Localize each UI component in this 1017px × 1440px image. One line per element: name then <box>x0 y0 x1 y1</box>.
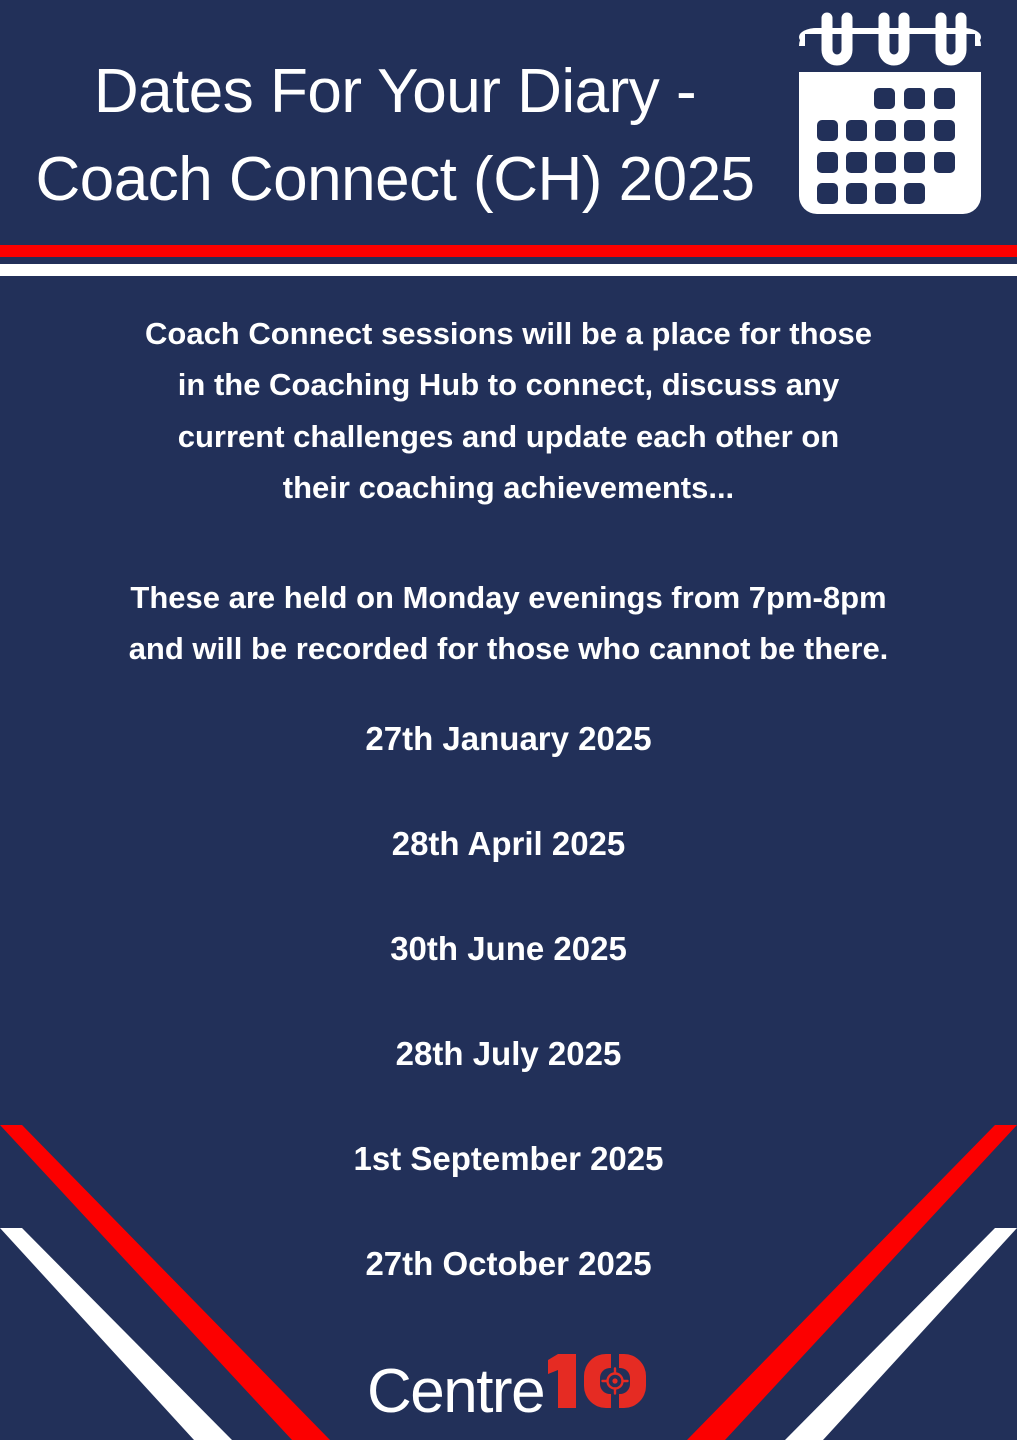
paragraph-spacer <box>0 514 1017 572</box>
list-item: 28th July 2025 <box>0 1037 1017 1070</box>
logo-wordmark: Centre <box>367 1361 544 1423</box>
logo: Centre <box>0 1350 1017 1412</box>
intro-paragraph: Coach Connect sessions will be a place f… <box>0 308 1017 514</box>
divider-gap <box>0 257 1017 264</box>
header: Dates For Your Diary - Coach Connect (CH… <box>0 0 1017 243</box>
list-item: 27th January 2025 <box>0 722 1017 755</box>
divider-white-bar <box>0 264 1017 276</box>
poster: Dates For Your Diary - Coach Connect (CH… <box>0 0 1017 1440</box>
list-item: 28th April 2025 <box>0 827 1017 860</box>
page-title: Dates For Your Diary - Coach Connect (CH… <box>0 48 790 224</box>
date-list: 27th January 2025 28th April 2025 30th J… <box>0 722 1017 1280</box>
logo-inner: Centre <box>367 1350 650 1412</box>
target-crosshair-icon <box>584 1354 646 1408</box>
body-copy: Coach Connect sessions will be a place f… <box>0 308 1017 675</box>
list-item: 1st September 2025 <box>0 1142 1017 1175</box>
list-item: 27th October 2025 <box>0 1247 1017 1280</box>
schedule-paragraph: These are held on Monday evenings from 7… <box>0 572 1017 675</box>
logo-numeral-mark <box>546 1350 650 1412</box>
calendar-icon <box>785 10 995 222</box>
list-item: 30th June 2025 <box>0 932 1017 965</box>
divider-red-bar <box>0 245 1017 257</box>
